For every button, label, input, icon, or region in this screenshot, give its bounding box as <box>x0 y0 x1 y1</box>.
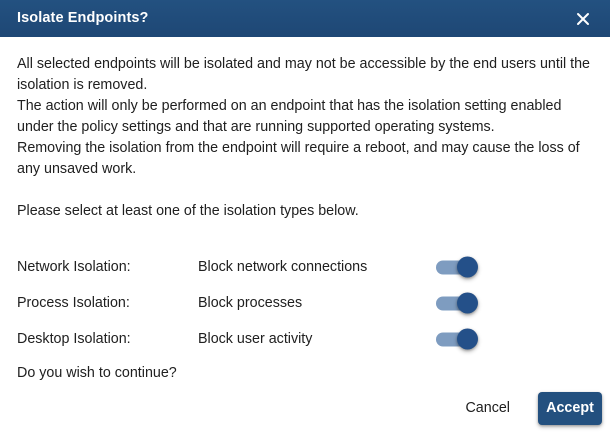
paragraph-spacer <box>17 180 593 201</box>
toggle-knob <box>457 257 478 278</box>
accept-button[interactable]: Accept <box>538 392 602 425</box>
isolation-description-network: Block network connections <box>198 258 467 276</box>
toggle-network-isolation[interactable] <box>436 260 478 275</box>
isolate-endpoints-dialog: Isolate Endpoints? All selected endpoint… <box>0 0 610 436</box>
isolation-label-desktop: Desktop Isolation: <box>17 330 198 348</box>
warning-paragraph-1: All selected endpoints will be isolated … <box>17 54 593 96</box>
dialog-body: All selected endpoints will be isolated … <box>0 37 610 396</box>
isolation-description-process: Block processes <box>198 294 467 312</box>
isolation-row-network: Network Isolation: Block network connect… <box>17 249 467 285</box>
toggle-knob <box>457 293 478 314</box>
select-prompt: Please select at least one of the isolat… <box>17 201 593 222</box>
warning-paragraph-2: The action will only be performed on an … <box>17 96 593 138</box>
isolation-options-table: Network Isolation: Block network connect… <box>17 249 467 357</box>
warning-paragraph-3: Removing the isolation from the endpoint… <box>17 138 593 180</box>
isolation-label-process: Process Isolation: <box>17 294 198 312</box>
isolation-label-network: Network Isolation: <box>17 258 198 276</box>
dialog-header: Isolate Endpoints? <box>0 0 610 37</box>
toggle-desktop-isolation[interactable] <box>436 332 478 347</box>
cancel-button[interactable]: Cancel <box>453 393 522 423</box>
isolation-row-process: Process Isolation: Block processes <box>17 285 467 321</box>
isolation-row-desktop: Desktop Isolation: Block user activity <box>17 321 467 357</box>
dialog-footer: Cancel Accept <box>0 380 610 436</box>
isolation-description-desktop: Block user activity <box>198 330 467 348</box>
toggle-knob <box>457 329 478 350</box>
toggle-process-isolation[interactable] <box>436 296 478 311</box>
close-icon[interactable] <box>572 8 594 30</box>
dialog-title: Isolate Endpoints? <box>17 11 149 26</box>
